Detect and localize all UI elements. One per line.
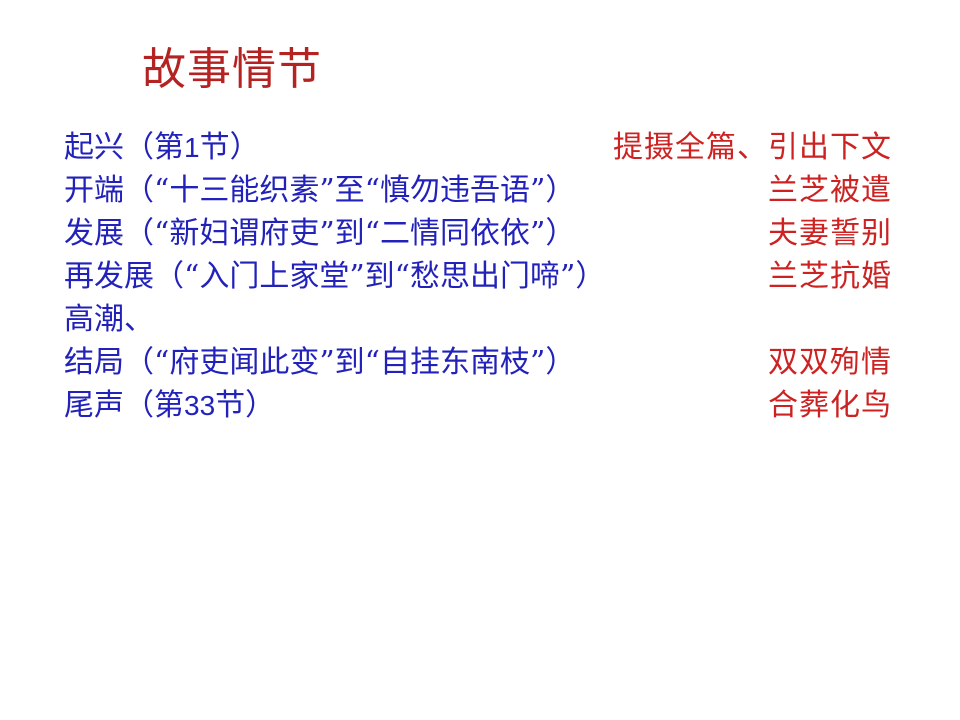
- outline-summary-label: 双双殉情: [768, 341, 892, 384]
- list-item: 高潮、: [0, 298, 960, 341]
- outline-summary-label: 夫妻誓别: [768, 212, 892, 255]
- outline-stage-label: 发展（“新妇谓府吏”到“二情同依依”）: [64, 212, 575, 255]
- story-outline-list: 起兴（第1节） 提摄全篇、引出下文 开端（“十三能织素”至“慎勿违吾语”） 兰芝…: [0, 126, 960, 427]
- outline-stage-label: 结局（“府吏闻此变”到“自挂东南枝”）: [64, 341, 575, 384]
- section-number: 33: [184, 390, 215, 421]
- outline-stage-label: 开端（“十三能织素”至“慎勿违吾语”）: [64, 169, 575, 212]
- section-number: 1: [184, 132, 200, 163]
- outline-summary-label: 兰芝抗婚: [768, 255, 892, 298]
- outline-summary-label: 合葬化鸟: [768, 384, 892, 427]
- presentation-slide: 故事情节 起兴（第1节） 提摄全篇、引出下文 开端（“十三能织素”至“慎勿违吾语…: [0, 0, 960, 720]
- outline-summary-label: 提摄全篇、引出下文: [613, 126, 892, 169]
- list-item: 再发展（“入门上家堂”到“愁思出门啼”） 兰芝抗婚: [0, 255, 960, 298]
- list-item: 结局（“府吏闻此变”到“自挂东南枝”） 双双殉情: [0, 341, 960, 384]
- page-title: 故事情节: [142, 44, 322, 96]
- outline-summary-label: 兰芝被遣: [768, 169, 892, 212]
- outline-stage-label: 起兴（第1节）: [64, 126, 260, 169]
- list-item: 尾声（第33节） 合葬化鸟: [0, 384, 960, 427]
- outline-stage-label: 再发展（“入门上家堂”到“愁思出门啼”）: [64, 255, 605, 298]
- list-item: 开端（“十三能织素”至“慎勿违吾语”） 兰芝被遣: [0, 169, 960, 212]
- outline-stage-label: 尾声（第33节）: [64, 384, 275, 427]
- list-item: 起兴（第1节） 提摄全篇、引出下文: [0, 126, 960, 169]
- outline-stage-label: 高潮、: [64, 298, 154, 341]
- list-item: 发展（“新妇谓府吏”到“二情同依依”） 夫妻誓别: [0, 212, 960, 255]
